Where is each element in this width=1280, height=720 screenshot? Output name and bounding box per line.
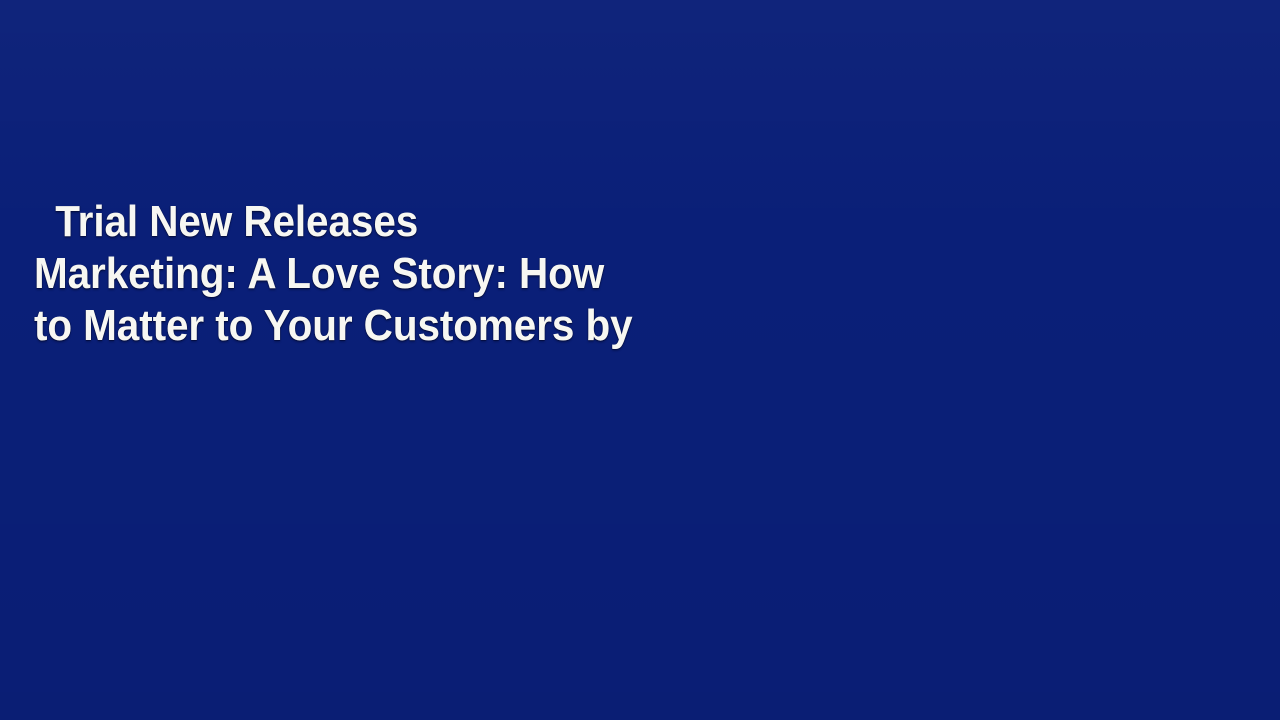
title-line-3: to Matter to Your Customers by: [34, 300, 770, 352]
promo-card: Trial New Releases Marketing: A Love Sto…: [0, 0, 1280, 720]
title-line-1: Trial New Releases: [34, 196, 770, 248]
title-block: Trial New Releases Marketing: A Love Sto…: [34, 196, 834, 352]
title-line-2: Marketing: A Love Story: How: [34, 248, 770, 300]
